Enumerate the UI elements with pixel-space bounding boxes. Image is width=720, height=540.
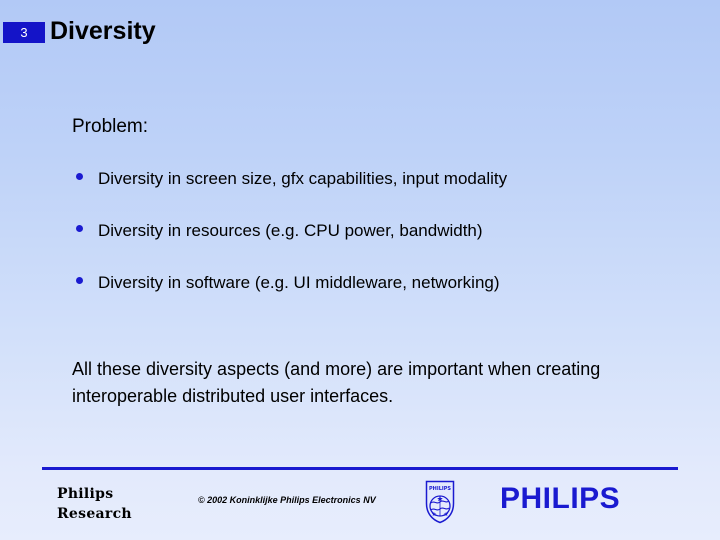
- philips-wordmark: PHILIPS: [500, 482, 620, 516]
- intro-label: Problem:: [72, 116, 148, 138]
- list-item-label: Diversity in screen size, gfx capabiliti…: [98, 168, 507, 190]
- list-item: Diversity in resources (e.g. CPU power, …: [72, 220, 672, 272]
- slide-body: Problem: Diversity in screen size, gfx c…: [0, 0, 720, 540]
- list-item: Diversity in screen size, gfx capabiliti…: [72, 168, 672, 220]
- brand-name-line-1: Philips: [57, 484, 132, 504]
- bullet-list: Diversity in screen size, gfx capabiliti…: [72, 168, 672, 324]
- bullet-dot-icon: [76, 225, 83, 232]
- philips-shield-icon: PHILIPS: [425, 480, 455, 524]
- bullet-dot-icon: [76, 277, 83, 284]
- list-item: Diversity in software (e.g. UI middlewar…: [72, 272, 672, 324]
- summary-paragraph: All these diversity aspects (and more) a…: [72, 356, 652, 410]
- bullet-dot-icon: [76, 173, 83, 180]
- list-item-label: Diversity in resources (e.g. CPU power, …: [98, 220, 483, 242]
- philips-shield-label: PHILIPS: [429, 486, 451, 492]
- brand-name-line-2: Research: [57, 504, 132, 524]
- copyright-notice: © 2002 Koninklijke Philips Electronics N…: [198, 495, 376, 505]
- brand-name: Philips Research: [57, 484, 132, 524]
- list-item-label: Diversity in software (e.g. UI middlewar…: [98, 272, 500, 294]
- slide: 3 Diversity Problem: Diversity in screen…: [0, 0, 720, 540]
- footer-divider: [42, 467, 678, 470]
